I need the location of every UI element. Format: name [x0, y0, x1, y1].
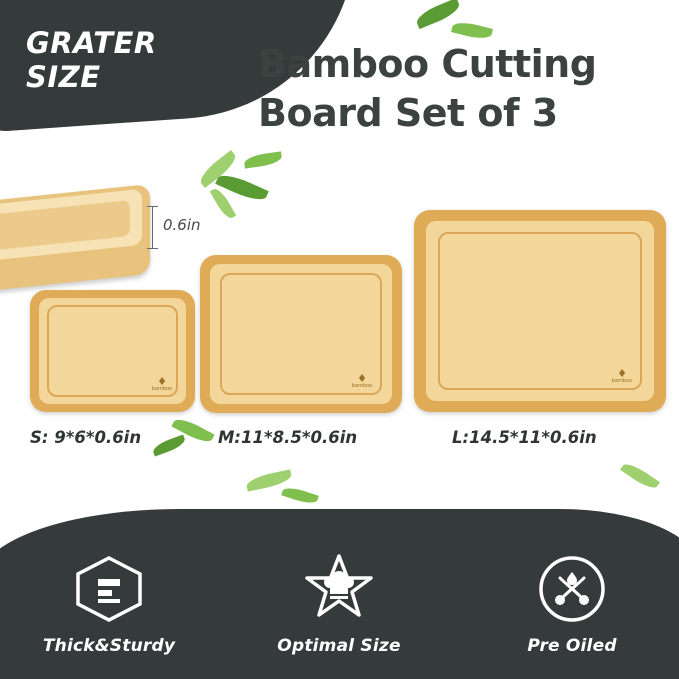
- shield-thick-icon: [72, 552, 146, 626]
- feature-pre-oiled: Pre Oiled: [487, 552, 657, 656]
- size-caption-small: S: 9*6*0.6in: [30, 428, 141, 447]
- board-logo: ♦ bamboo: [598, 368, 646, 385]
- star-chef-hat-icon: [302, 552, 376, 626]
- product-infographic: GRATER SIZE Bamboo Cutting Board Set of …: [0, 0, 679, 679]
- thickness-line: [152, 206, 153, 248]
- feature-thick-sturdy: Thick&Sturdy: [24, 552, 194, 656]
- grater-size-tag: GRATER SIZE: [26, 26, 246, 94]
- leaf-icon: [451, 19, 493, 41]
- board-logo-text: bamboo: [612, 378, 632, 384]
- leaf-icon: [151, 435, 187, 457]
- size-caption-large: L:14.5*11*0.6in: [452, 428, 597, 447]
- board-logo-text: bamboo: [152, 386, 172, 392]
- oil-drop-circle-icon: [535, 552, 609, 626]
- leaf-icon: [243, 151, 282, 168]
- leaf-icon: [620, 460, 660, 492]
- thickness-label: 0.6in: [163, 216, 201, 234]
- board-juice-groove: [438, 232, 642, 390]
- board-logo-text: bamboo: [352, 383, 372, 389]
- leaf-icon: [281, 485, 319, 507]
- thickness-cap-bottom: [147, 248, 158, 249]
- cutting-board-large: ♦ bamboo: [414, 210, 666, 412]
- page-title: Bamboo Cutting Board Set of 3: [258, 40, 658, 137]
- feature-label: Pre Oiled: [487, 636, 657, 656]
- feature-label: Thick&Sturdy: [24, 636, 194, 656]
- board-logo: ♦ bamboo: [142, 376, 182, 393]
- cutting-board-medium: ♦ bamboo: [200, 255, 402, 413]
- feature-label: Optimal Size: [254, 636, 424, 656]
- board-logo: ♦ bamboo: [340, 373, 384, 390]
- cutting-board-small: ♦ bamboo: [30, 290, 195, 412]
- feature-optimal-size: Optimal Size: [254, 552, 424, 656]
- size-caption-medium: M:11*8.5*0.6in: [218, 428, 357, 447]
